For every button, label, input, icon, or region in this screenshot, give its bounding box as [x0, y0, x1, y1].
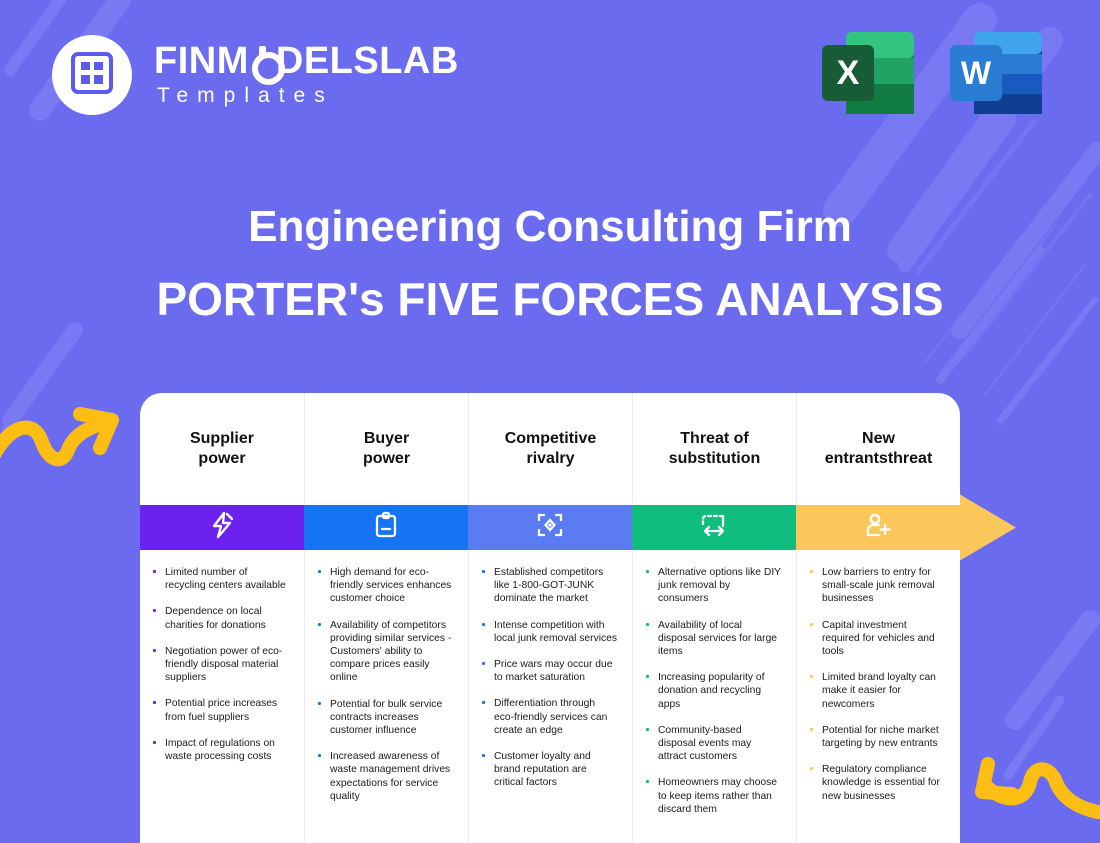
- force-body-competitive-rivalry: Established competitors like 1-800-GOT-J…: [469, 550, 632, 843]
- list-item: Limited number of recycling centers avai…: [150, 566, 290, 592]
- page-subtitle: PORTER's FIVE FORCES ANALYSIS: [0, 268, 1100, 330]
- page-titles: Engineering Consulting Firm PORTER's FIV…: [0, 196, 1100, 330]
- brand-name-part1: FINM: [154, 40, 249, 82]
- force-body-new-entrants-threat: Low barriers to entry for small-scale ju…: [797, 550, 960, 843]
- list-item: Alternative options like DIY junk remova…: [643, 566, 782, 606]
- force-points-competitive-rivalry: Established competitors like 1-800-GOT-J…: [479, 566, 618, 790]
- band-segment-supplier: [140, 505, 304, 550]
- brand-name: FINMDELSLAB: [154, 42, 459, 82]
- force-title-line1: Threat of: [680, 430, 748, 447]
- list-item: Established competitors like 1-800-GOT-J…: [479, 566, 618, 606]
- squiggle-arrow-up-right-icon: [0, 400, 122, 490]
- page-title: Engineering Consulting Firm: [0, 196, 1100, 258]
- list-item: Homeowners may choose to keep items rath…: [643, 776, 782, 816]
- svg-text:W: W: [961, 55, 992, 91]
- force-title-line2: rivalry: [526, 450, 574, 467]
- forces-grid: Supplier power Limited number of recycli…: [140, 393, 960, 843]
- band-arrow-head: [960, 495, 1016, 561]
- list-item: Availability of competitors providing si…: [315, 619, 454, 685]
- list-item: Potential price increases from fuel supp…: [150, 697, 290, 723]
- force-title-line1: Competitive: [505, 430, 597, 447]
- force-title-buyer-power: Buyer power: [305, 393, 468, 505]
- porters-five-forces-card: Supplier power Limited number of recycli…: [140, 393, 960, 843]
- force-title-competitive-rivalry: Competitive rivalry: [469, 393, 632, 505]
- logo-badge: [52, 35, 132, 115]
- list-item: Increased awareness of waste management …: [315, 750, 454, 803]
- force-title-line1: New: [862, 430, 895, 447]
- list-item: Intense competition with local junk remo…: [479, 619, 618, 645]
- force-title-line2: power: [198, 450, 245, 467]
- force-title-new-entrants-threat: New entrantsthreat: [797, 393, 960, 505]
- svg-text:X: X: [837, 54, 860, 92]
- list-item: Price wars may occur due to market satur…: [479, 658, 618, 684]
- force-title-line1: Supplier: [190, 430, 254, 447]
- page-header: FINMDELSLAB Templates X W: [0, 0, 1100, 150]
- force-column-competitive-rivalry: Competitive rivalry Established competit…: [468, 393, 632, 843]
- grid-squares-icon: [70, 51, 114, 100]
- force-points-new-entrants-threat: Low barriers to entry for small-scale ju…: [807, 566, 946, 803]
- list-item: Increasing popularity of donation and re…: [643, 671, 782, 711]
- force-title-line2: power: [363, 450, 410, 467]
- force-column-buyer-power: Buyer power High demand for eco-friendly…: [304, 393, 468, 843]
- force-body-buyer-power: High demand for eco-friendly services en…: [305, 550, 468, 843]
- force-title-line2: entrantsthreat: [825, 450, 933, 467]
- list-item: Potential for niche market targeting by …: [807, 724, 946, 750]
- brand-name-part2: DELSLAB: [276, 40, 459, 82]
- list-item: Potential for bulk service contracts inc…: [315, 698, 454, 738]
- user-plus-icon: [863, 511, 893, 544]
- force-points-supplier-power: Limited number of recycling centers avai…: [150, 566, 290, 763]
- word-icon[interactable]: W: [946, 27, 1046, 124]
- force-column-threat-of-substitution: Threat of substitution Alternative optio…: [632, 393, 796, 843]
- force-title-threat-of-substitution: Threat of substitution: [633, 393, 796, 505]
- band-segment-substitution: [632, 505, 796, 550]
- list-item: Regulatory compliance knowledge is essen…: [807, 763, 946, 803]
- list-item: Dependence on local charities for donati…: [150, 605, 290, 631]
- force-icon-band: [140, 505, 960, 550]
- list-item: Availability of local disposal services …: [643, 619, 782, 659]
- list-item: Customer loyalty and brand reputation ar…: [479, 750, 618, 790]
- swap-arrows-icon: [699, 512, 729, 543]
- band-segment-entrants: [796, 505, 960, 550]
- list-item: Impact of regulations on waste processin…: [150, 737, 290, 763]
- list-item: Differentiation through eco-friendly ser…: [479, 697, 618, 737]
- force-body-threat-of-substitution: Alternative options like DIY junk remova…: [633, 550, 796, 843]
- list-item: Limited brand loyalty can make it easier…: [807, 671, 946, 711]
- list-item: Low barriers to entry for small-scale ju…: [807, 566, 946, 606]
- force-title-line1: Buyer: [364, 430, 409, 447]
- brand-logo[interactable]: FINMDELSLAB Templates: [52, 35, 459, 115]
- focus-target-icon: [536, 511, 564, 544]
- force-column-supplier-power: Supplier power Limited number of recycli…: [140, 393, 304, 843]
- list-item: Capital investment required for vehicles…: [807, 619, 946, 659]
- force-column-new-entrants-threat: New entrantsthreat Low barriers to entry…: [796, 393, 960, 843]
- band-segment-buyer: [304, 505, 468, 550]
- excel-icon[interactable]: X: [818, 27, 918, 124]
- squiggle-arrow-down-left-icon: [960, 742, 1100, 842]
- lightning-bolt-icon: [209, 511, 235, 544]
- brand-o-ring-icon: [249, 47, 276, 77]
- office-icons-group: X W: [818, 27, 1064, 124]
- force-title-line2: substitution: [669, 450, 761, 467]
- list-item: Community-based disposal events may attr…: [643, 724, 782, 764]
- force-body-supplier-power: Limited number of recycling centers avai…: [140, 550, 304, 843]
- list-item: High demand for eco-friendly services en…: [315, 566, 454, 606]
- list-item: Negotiation power of eco-friendly dispos…: [150, 645, 290, 685]
- force-points-threat-of-substitution: Alternative options like DIY junk remova…: [643, 566, 782, 816]
- brand-subtitle: Templates: [154, 84, 459, 108]
- band-segment-rivalry: [468, 505, 632, 550]
- force-points-buyer-power: High demand for eco-friendly services en…: [315, 566, 454, 803]
- clipboard-minus-icon: [373, 511, 399, 544]
- force-title-supplier-power: Supplier power: [140, 393, 304, 505]
